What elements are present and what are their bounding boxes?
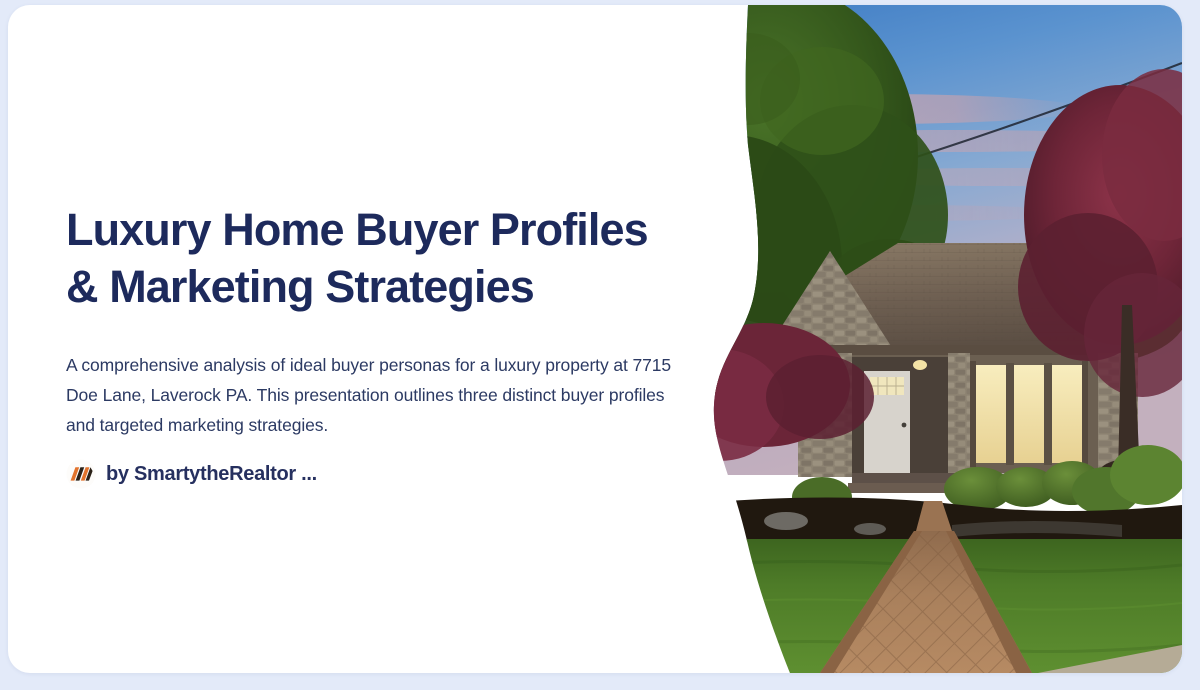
byline-text: by SmartytheRealtor ... (106, 463, 317, 486)
landscape-rock (764, 512, 808, 530)
slide-frame: Luxury Home Buyer Profiles & Marketing S… (0, 0, 1200, 690)
stone-column (948, 353, 970, 475)
slide-subtitle: A comprehensive analysis of ideal buyer … (66, 350, 691, 440)
smarty-monogram-icon (66, 459, 96, 489)
hero-photo-panel (702, 5, 1182, 673)
byline: by SmartytheRealtor ... (66, 459, 317, 489)
porch-light (913, 360, 927, 370)
lit-windows (970, 361, 1088, 467)
slide-title: Luxury Home Buyer Profiles & Marketing S… (66, 201, 696, 315)
presentation-slide-card: Luxury Home Buyer Profiles & Marketing S… (8, 5, 1182, 673)
house-photograph (702, 5, 1182, 673)
slide-text-column: Luxury Home Buyer Profiles & Marketing S… (8, 5, 728, 673)
